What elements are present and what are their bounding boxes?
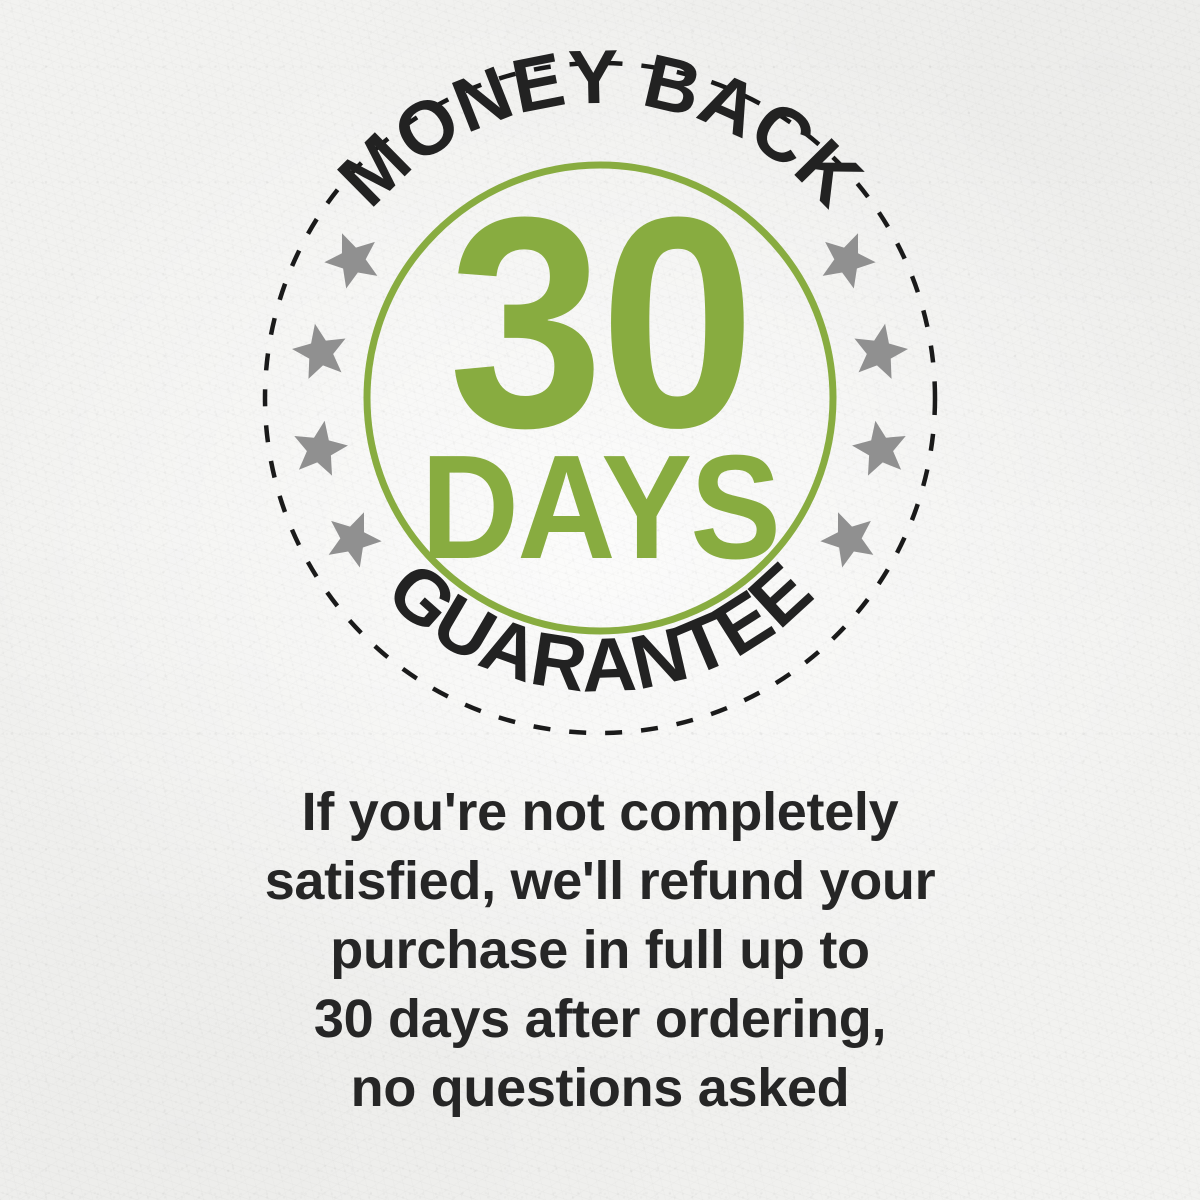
promise-line-4: 30 days after ordering, xyxy=(150,985,1050,1054)
arc-text-guarantee: GUARANTEE xyxy=(372,546,829,709)
promise-line-1: If you're not completely xyxy=(150,778,1050,847)
star-icon xyxy=(849,416,912,477)
promise-line-5: no questions asked xyxy=(150,1054,1050,1123)
guarantee-promise-text: If you're not completely satisfied, we'l… xyxy=(150,778,1050,1124)
star-icon xyxy=(288,319,352,381)
promise-line-3: purchase in full up to xyxy=(150,916,1050,985)
star-icon xyxy=(319,502,389,571)
money-back-guarantee-badge: MONEY BACK GUARANTEE 30 DAYS xyxy=(0,0,1200,800)
star-icon xyxy=(813,502,883,571)
star-icon xyxy=(317,223,387,292)
star-icon xyxy=(813,223,883,292)
star-icon xyxy=(848,319,912,381)
star-icon xyxy=(289,416,352,477)
promise-line-2: satisfied, we'll refund your xyxy=(150,847,1050,916)
star-decorations xyxy=(288,223,912,571)
arc-text-money-back: MONEY BACK xyxy=(322,35,878,223)
guarantee-badge-page: MONEY BACK GUARANTEE 30 DAYS If you' xyxy=(0,0,1200,1200)
